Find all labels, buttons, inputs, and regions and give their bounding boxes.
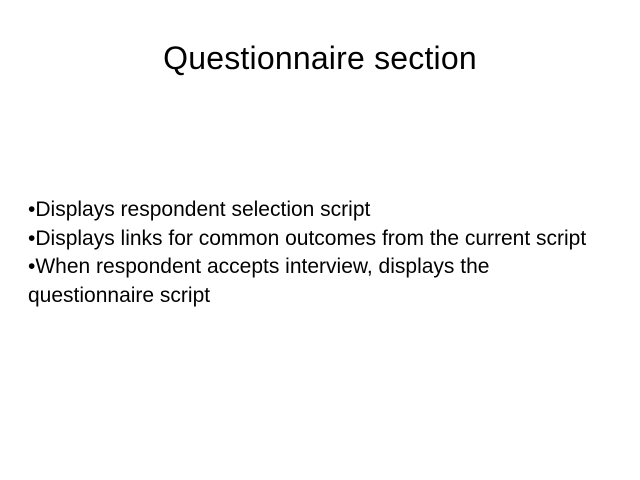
bullet-item-1: •Displays respondent selection script [28,196,606,225]
page-title: Questionnaire section [0,38,640,78]
slide-body-text: •Displays respondent selection script •D… [28,196,606,310]
bullet-item-3-label: When respondent accepts interview, displ… [28,255,489,307]
bullet-item-1-label: Displays respondent selection script [35,198,370,221]
bullet-item-2: •Displays links for common outcomes from… [28,225,606,254]
slide-canvas: Questionnaire section •Displays responde… [0,0,640,480]
bullet-item-2-label: Displays links for common outcomes from … [35,227,586,250]
bullet-item-3: •When respondent accepts interview, disp… [28,253,606,310]
